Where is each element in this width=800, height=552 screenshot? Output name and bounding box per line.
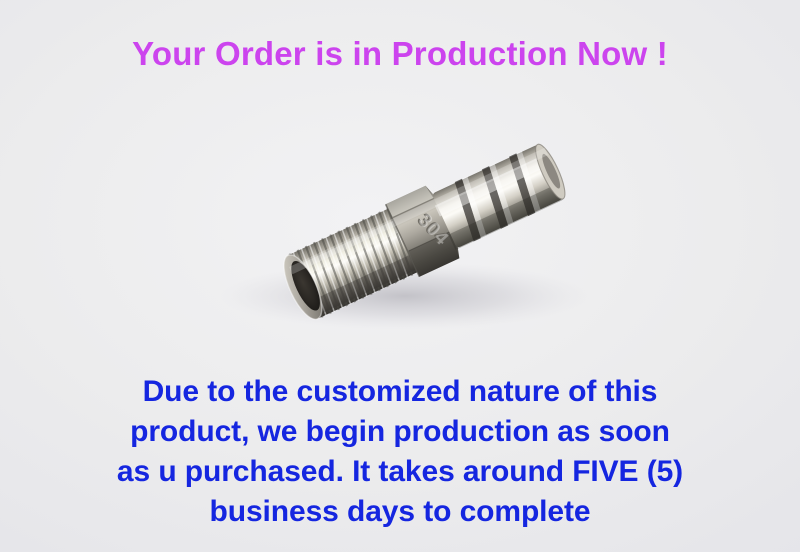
- hose-barb-fitting-illustration: 304 304: [0, 100, 800, 375]
- production-notice: Due to the customized nature of this pro…: [0, 372, 800, 532]
- notice-line-1: Due to the customized nature of this: [0, 372, 800, 412]
- page-title: Your Order is in Production Now !: [0, 36, 800, 72]
- notice-line-4: business days to complete: [0, 492, 800, 532]
- notice-line-3: as u purchased. It takes around FIVE (5): [0, 452, 800, 492]
- notice-line-2: product, we begin production as soon: [0, 412, 800, 452]
- promo-banner: Your Order is in Production Now !: [0, 0, 800, 552]
- product-photo: 304 304: [0, 100, 800, 375]
